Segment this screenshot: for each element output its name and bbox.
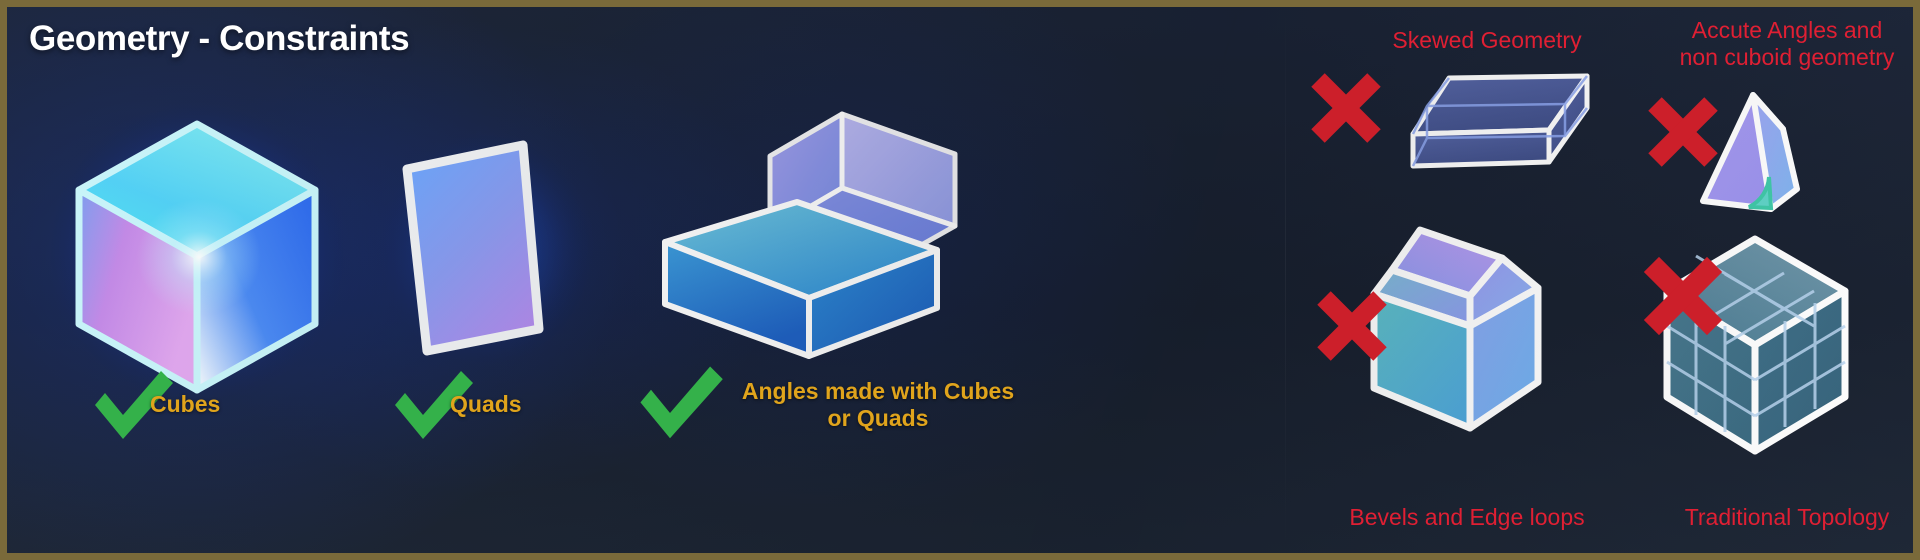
label-traditional-line1: Traditional Topology: [1637, 504, 1920, 531]
page-title: Geometry - Constraints: [29, 19, 409, 59]
label-angles-line2: or Quads: [713, 405, 1043, 432]
cross-icon-skewed: [1307, 69, 1385, 147]
label-skewed-line1: Skewed Geometry: [1337, 27, 1637, 54]
cross-icon-traditional: [1639, 252, 1727, 340]
label-acute-line1: Accute Angles and: [1637, 17, 1920, 44]
skewed-illustration: [1397, 62, 1597, 177]
cross-icon-bevels: [1313, 287, 1391, 365]
label-acute-line2: non cuboid geometry: [1637, 44, 1920, 71]
section-divider: [1285, 7, 1286, 553]
label-bevels: Bevels and Edge loops: [1307, 504, 1627, 531]
label-angles: Angles made with Cubes or Quads: [713, 378, 1043, 432]
label-skewed: Skewed Geometry: [1337, 27, 1637, 54]
quad-illustration: [387, 137, 597, 367]
bevels-illustration: [1362, 222, 1557, 452]
cube-illustration: [47, 102, 347, 402]
label-traditional: Traditional Topology: [1637, 504, 1920, 531]
label-acute: Accute Angles and non cuboid geometry: [1637, 17, 1920, 71]
angles-illustration: [637, 102, 987, 362]
slide-root: Geometry - Constraints: [0, 0, 1920, 560]
label-angles-line1: Angles made with Cubes: [713, 378, 1043, 405]
label-cubes: Cubes: [150, 391, 220, 418]
label-bevels-line1: Bevels and Edge loops: [1307, 504, 1627, 531]
label-quads: Quads: [450, 391, 522, 418]
cross-icon-acute: [1644, 93, 1722, 171]
